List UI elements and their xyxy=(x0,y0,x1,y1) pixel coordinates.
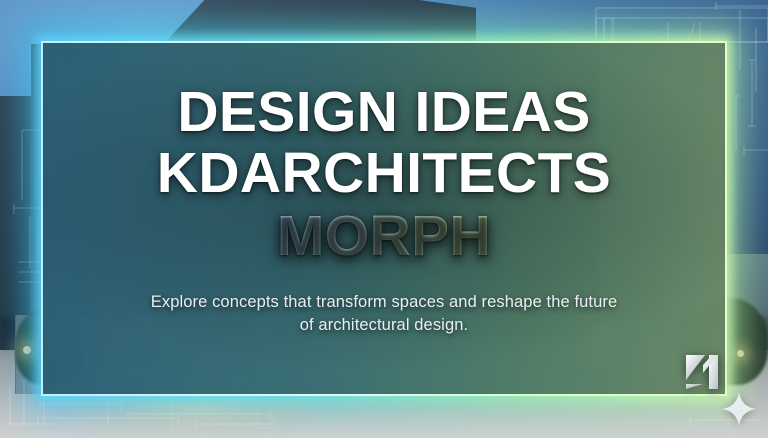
banner-content: DESIGN IDEAS KDARCHITECTS MORPH Explore … xyxy=(41,41,727,396)
four-point-sparkle-icon xyxy=(722,392,756,426)
logo-icon xyxy=(681,351,723,393)
headline-line-1: DESIGN IDEAS xyxy=(177,85,590,140)
kd-architects-logo-mark xyxy=(681,351,723,393)
promo-banner: DESIGN IDEAS KDARCHITECTS MORPH Explore … xyxy=(0,0,768,438)
sparkle-glyph xyxy=(722,392,756,426)
headline-accent-morph: MORPH xyxy=(277,209,491,264)
headline-line-2: KDARCHITECTS xyxy=(157,146,611,201)
banner-subtitle: Explore concepts that transform spaces a… xyxy=(149,291,619,338)
